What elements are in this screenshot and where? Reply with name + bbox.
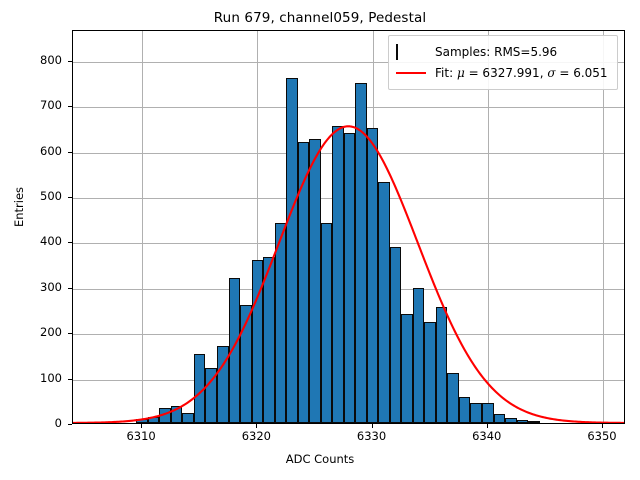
y-tick-mark [68, 106, 72, 107]
histogram-bar [298, 142, 310, 423]
y-tick-label: 500 [0, 189, 62, 203]
x-tick-mark [487, 424, 488, 428]
histogram-bar [355, 83, 367, 423]
gridline-x-6310 [142, 31, 143, 423]
histogram-bar [447, 373, 459, 423]
histogram-bar [275, 223, 287, 423]
y-tick-label: 300 [0, 280, 62, 294]
x-tick-label: 6320 [226, 429, 286, 443]
histogram-bar [240, 305, 252, 423]
y-tick-mark [68, 379, 72, 380]
histogram-bar [263, 257, 275, 423]
histogram-bar [205, 368, 217, 423]
histogram-bar [424, 322, 436, 423]
legend-patch-icon [396, 45, 426, 59]
sigma-symbol: σ [547, 66, 555, 80]
histogram-bar [378, 182, 390, 423]
y-tick-mark [68, 288, 72, 289]
histogram-bar [482, 403, 494, 423]
chart-legend: Samples: RMS=5.96 Fit: μ = 6327.991, σ =… [388, 35, 618, 90]
histogram-bar [332, 126, 344, 423]
matplotlib-figure: Run 679, channel059, Pedestal ADC Counts… [0, 0, 640, 480]
x-tick-label: 6350 [572, 429, 632, 443]
y-tick-label: 700 [0, 98, 62, 112]
histogram-bar [229, 278, 241, 423]
mu-symbol: μ [457, 66, 465, 80]
x-axis-label: ADC Counts [0, 452, 640, 466]
y-tick-mark [68, 152, 72, 153]
histogram-bar [194, 354, 206, 423]
histogram-bar [528, 421, 540, 423]
histogram-bar [321, 223, 333, 423]
y-tick-label: 600 [0, 144, 62, 158]
x-tick-label: 6330 [342, 429, 402, 443]
histogram-bar [470, 403, 482, 423]
y-tick-mark [68, 197, 72, 198]
histogram-bar [252, 260, 264, 423]
histogram-bar [286, 78, 298, 423]
histogram-bar [459, 397, 471, 423]
x-tick-mark [141, 424, 142, 428]
histogram-bar [494, 414, 506, 423]
histogram-bar [136, 419, 148, 423]
y-tick-label: 0 [0, 416, 62, 430]
histogram-bar [171, 406, 183, 423]
histogram-bar [217, 346, 229, 423]
y-tick-mark [68, 424, 72, 425]
x-tick-label: 6340 [457, 429, 517, 443]
x-tick-label: 6310 [111, 429, 171, 443]
legend-entry-fit: Fit: μ = 6327.991, σ = 6.051 [396, 62, 610, 83]
histogram-bar [401, 314, 413, 423]
histogram-bar [517, 420, 529, 423]
legend-label-fit: Fit: μ = 6327.991, σ = 6.051 [435, 66, 608, 80]
y-tick-mark [68, 242, 72, 243]
histogram-bar [309, 139, 321, 423]
histogram-bar [148, 417, 160, 423]
histogram-bar [413, 288, 425, 423]
histogram-bar [344, 133, 356, 424]
legend-line-icon [396, 66, 426, 80]
legend-label-samples: Samples: RMS=5.96 [435, 45, 557, 59]
chart-title: Run 679, channel059, Pedestal [0, 10, 640, 26]
x-tick-mark [256, 424, 257, 428]
y-tick-label: 200 [0, 325, 62, 339]
legend-entry-samples: Samples: RMS=5.96 [396, 41, 610, 62]
y-tick-label: 400 [0, 234, 62, 248]
x-tick-mark [372, 424, 373, 428]
histogram-bar [367, 128, 379, 423]
y-tick-label: 100 [0, 371, 62, 385]
y-tick-mark [68, 61, 72, 62]
histogram-bar [159, 408, 171, 423]
histogram-bar [390, 247, 402, 423]
y-tick-mark [68, 333, 72, 334]
gridline-y-700 [73, 107, 624, 108]
histogram-bar [505, 418, 517, 423]
x-tick-mark [602, 424, 603, 428]
histogram-bar [436, 307, 448, 423]
y-tick-label: 800 [0, 53, 62, 67]
histogram-bar [182, 413, 194, 423]
